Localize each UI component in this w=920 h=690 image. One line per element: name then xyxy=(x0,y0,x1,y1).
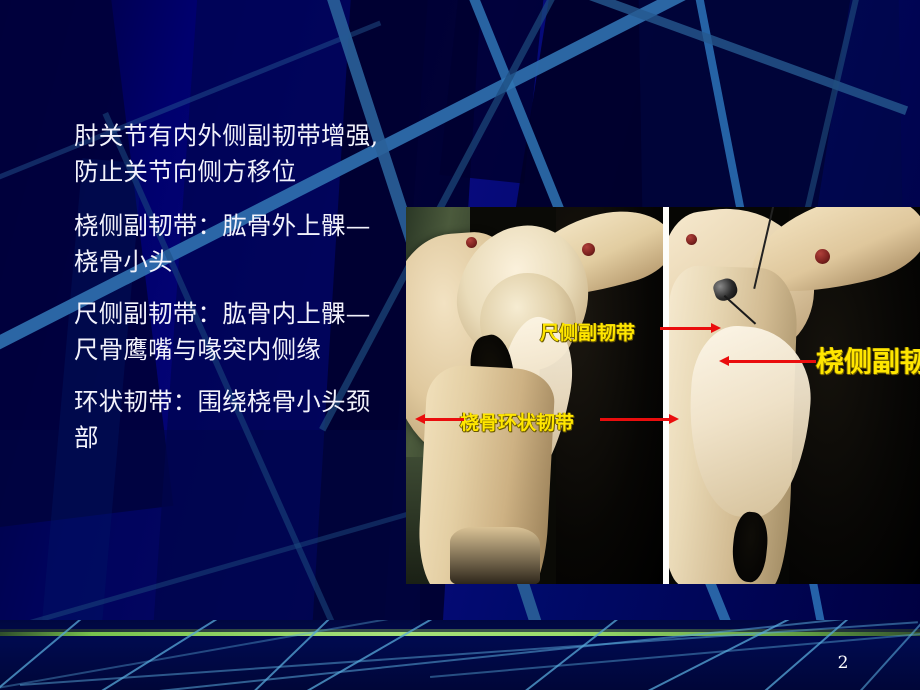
pointer-arrow-annular-right xyxy=(600,418,670,421)
pointer-arrow-annular-left xyxy=(424,418,464,421)
specimen-marker-pin xyxy=(466,237,477,248)
specimen-marker-pin xyxy=(686,234,697,245)
pointer-arrow-radial-collateral-ligament xyxy=(728,360,816,363)
photo-panel-right xyxy=(669,207,920,584)
body-paragraph-3: 尺侧副韧带：肱骨内上髁—尺骨鹰嘴与喙突内侧缘 xyxy=(74,296,394,368)
photo-panel-left xyxy=(406,207,663,584)
pointer-arrow-ulnar-collateral-ligament xyxy=(672,327,712,330)
slide-footer xyxy=(0,620,920,690)
page-number: 2 xyxy=(828,653,858,673)
label-ulnar-collateral-ligament: 尺侧副韧带 xyxy=(540,318,635,345)
body-paragraph-4: 环状韧带：围绕桡骨小头颈部 xyxy=(74,384,394,456)
background-polygon xyxy=(637,0,903,242)
arrow-head-icon xyxy=(415,414,425,424)
arrow-head-icon xyxy=(711,323,721,333)
body-paragraph-1: 肘关节有内外侧副韧带增强,防止关节向侧方移位 xyxy=(74,118,394,190)
specimen-marker-pin xyxy=(582,243,595,256)
body-paragraph-2: 桡侧副韧带：肱骨外上髁—桡骨小头 xyxy=(74,208,394,280)
arrow-head-icon xyxy=(669,414,679,424)
specimen-lower-shadow xyxy=(450,527,540,584)
anatomy-photograph xyxy=(406,207,920,584)
specimen-marker-pin xyxy=(815,249,830,264)
slide-body-text: 肘关节有内外侧副韧带增强,防止关节向侧方移位 桡侧副韧带：肱骨外上髁—桡骨小头 … xyxy=(74,118,394,472)
label-annular-ligament: 桡骨环状韧带 xyxy=(460,408,574,435)
arrow-head-icon xyxy=(719,356,729,366)
label-radial-collateral-ligament: 桡侧副韧带 xyxy=(816,340,920,380)
presentation-slide: 肘关节有内外侧副韧带增强,防止关节向侧方移位 桡侧副韧带：肱骨外上髁—桡骨小头 … xyxy=(0,0,920,690)
